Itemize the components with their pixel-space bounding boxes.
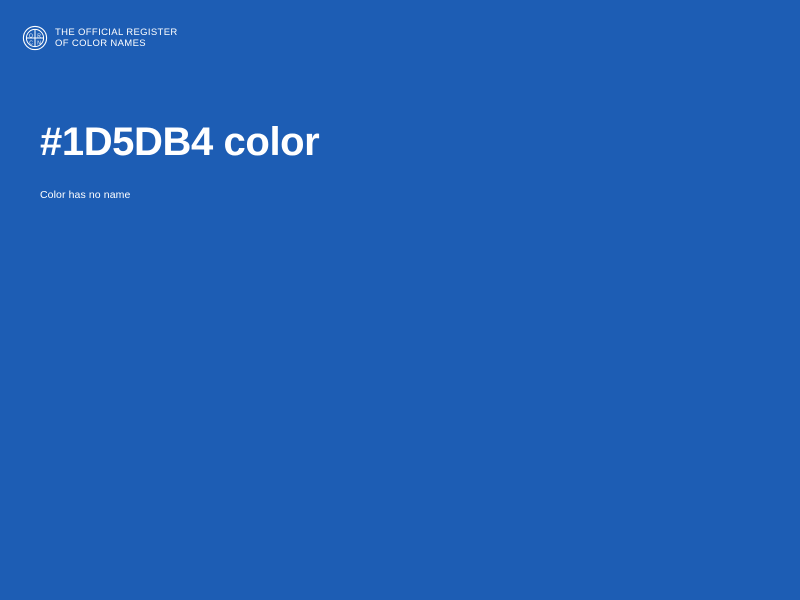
svg-text:R: R <box>37 34 41 40</box>
color-name-status: Color has no name <box>40 166 760 202</box>
svg-text:N: N <box>37 41 41 47</box>
svg-text:C: C <box>29 41 33 47</box>
brand-wordmark-line-2: OF COLOR NAMES <box>55 38 178 50</box>
svg-text:O: O <box>29 34 33 40</box>
color-detail-page: O R C N THE OFFICIAL REGISTER OF COLOR N… <box>0 0 800 600</box>
brand-home-link[interactable]: O R C N THE OFFICIAL REGISTER OF COLOR N… <box>22 25 178 51</box>
register-seal-icon: O R C N <box>22 25 48 51</box>
page-title: #1D5DB4 color <box>40 118 760 166</box>
brand-wordmark: THE OFFICIAL REGISTER OF COLOR NAMES <box>55 27 178 50</box>
site-header: O R C N THE OFFICIAL REGISTER OF COLOR N… <box>22 25 178 51</box>
brand-wordmark-line-1: THE OFFICIAL REGISTER <box>55 27 178 39</box>
main-content: #1D5DB4 color Color has no name <box>40 118 760 202</box>
